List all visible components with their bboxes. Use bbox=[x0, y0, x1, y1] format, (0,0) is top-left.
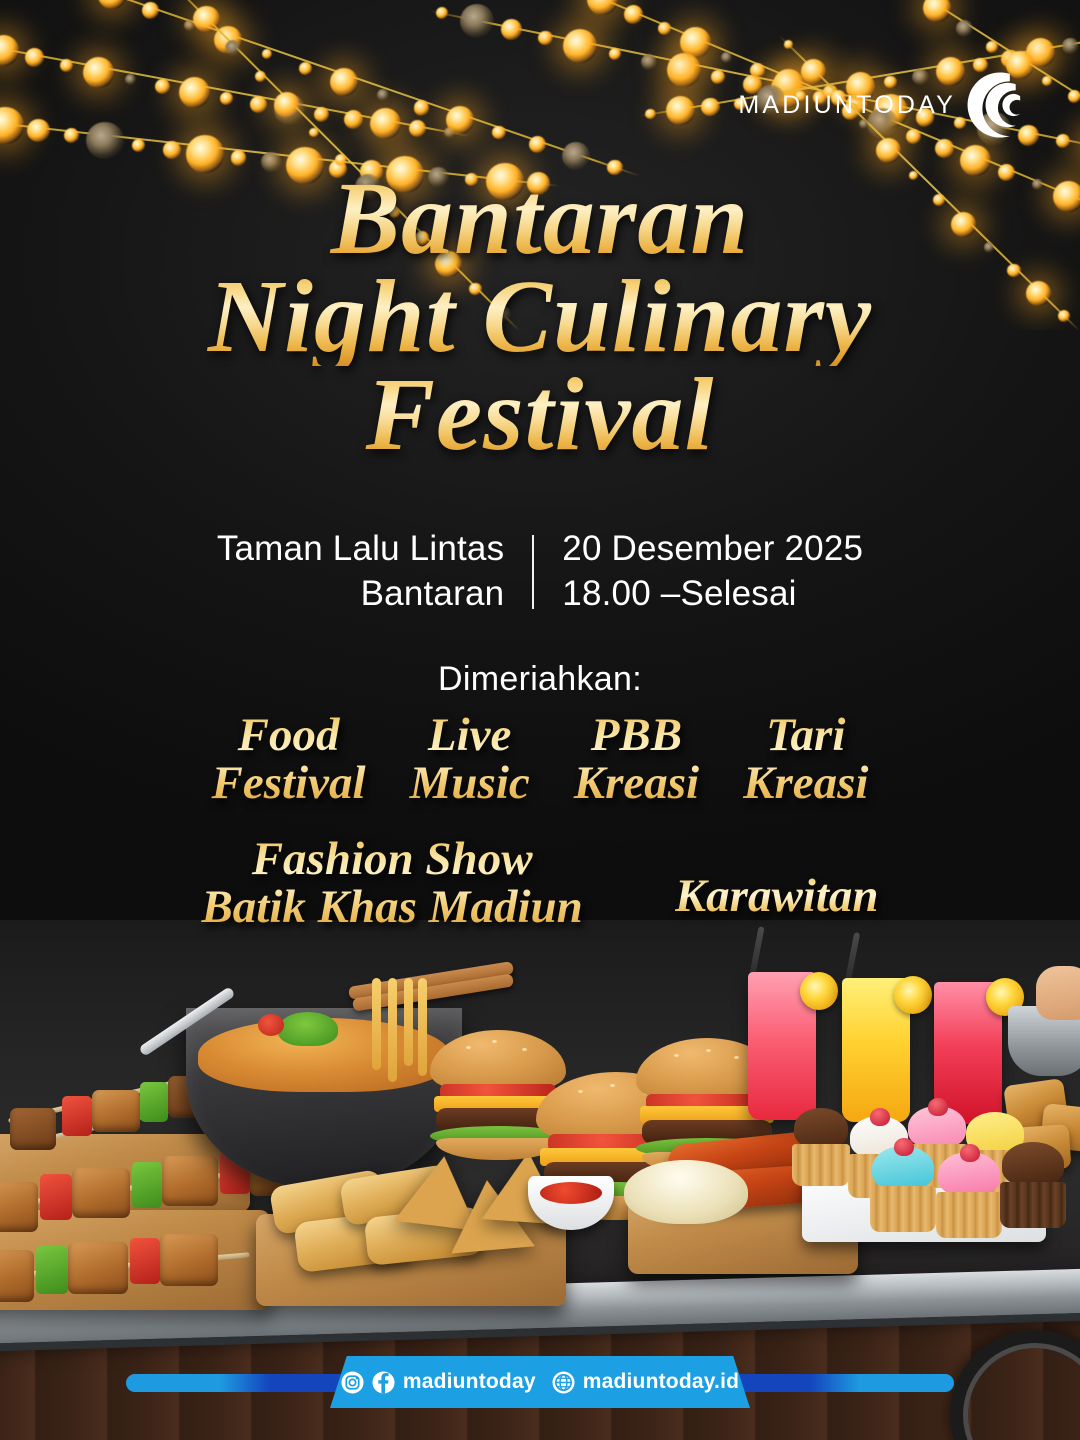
light-bulb bbox=[214, 26, 242, 54]
light-bulb bbox=[98, 0, 126, 9]
satay-meat bbox=[162, 1156, 218, 1206]
act-karawitan: Karawitan bbox=[675, 873, 879, 921]
cupcake-liner bbox=[870, 1186, 936, 1232]
tomato-garnish bbox=[258, 1014, 284, 1036]
light-bulb bbox=[64, 128, 80, 144]
light-bulb bbox=[587, 0, 618, 15]
light-bulb bbox=[1056, 134, 1070, 148]
light-bulb bbox=[60, 59, 73, 72]
light-bulb bbox=[255, 71, 266, 82]
social-handle-group[interactable]: madiuntoday bbox=[341, 1370, 536, 1394]
act-fashion-show: Fashion Show Batik Khas Madiun bbox=[201, 836, 582, 932]
act-live-music: Live Music bbox=[388, 712, 552, 808]
light-bulb bbox=[1062, 38, 1078, 54]
light-bulb bbox=[641, 54, 658, 71]
light-bulb bbox=[923, 0, 951, 22]
light-bulb bbox=[377, 89, 389, 101]
light-bulb bbox=[1068, 90, 1080, 104]
act-line-2: Kreasi bbox=[743, 760, 868, 808]
bun-seed bbox=[522, 1048, 527, 1051]
program-acts-row-2: Fashion Show Batik Khas Madiun Karawitan bbox=[0, 836, 1080, 932]
light-bulb bbox=[184, 20, 196, 32]
act-pbb-kreasi: PBB Kreasi bbox=[552, 712, 721, 808]
bun-seed bbox=[578, 1090, 583, 1093]
light-bulb bbox=[446, 106, 474, 134]
event-date: 20 Desember 2025 bbox=[562, 527, 863, 572]
light-bulb bbox=[609, 48, 621, 60]
instagram-icon[interactable] bbox=[341, 1371, 364, 1394]
website-group[interactable]: madiuntoday.id bbox=[552, 1370, 739, 1394]
satay-pepper-red bbox=[62, 1096, 92, 1136]
light-bulb bbox=[193, 6, 219, 32]
light-bulb bbox=[274, 92, 300, 118]
light-bulb bbox=[163, 141, 181, 159]
lifted-noodle-strand bbox=[418, 978, 427, 1076]
event-details: Taman Lalu Lintas Bantaran 20 Desember 2… bbox=[0, 527, 1080, 617]
light-bulb bbox=[142, 2, 159, 19]
light-bulb bbox=[1001, 50, 1019, 68]
act-line-1: Live bbox=[410, 712, 530, 760]
light-bulb bbox=[935, 139, 954, 158]
satay-meat bbox=[92, 1090, 140, 1132]
satay-meat bbox=[68, 1242, 128, 1294]
social-handle-text: madiuntoday bbox=[403, 1370, 536, 1394]
cupcake-berry bbox=[894, 1138, 914, 1156]
act-line-1: PBB bbox=[574, 712, 699, 760]
satay-pepper-green bbox=[36, 1246, 68, 1294]
brand-logo: MADIUNTODAY bbox=[738, 68, 1032, 142]
light-bulb bbox=[624, 5, 643, 24]
light-bulb bbox=[956, 20, 973, 37]
light-bulb bbox=[314, 107, 329, 122]
title-line-1: Bantaran bbox=[0, 170, 1080, 268]
venue-line-2: Bantaran bbox=[217, 572, 504, 617]
light-wire bbox=[59, 0, 640, 177]
satay-pepper-red bbox=[40, 1174, 72, 1220]
light-bulb bbox=[444, 127, 455, 138]
title-line-2: Night Culinary bbox=[0, 268, 1080, 366]
venue-block: Taman Lalu Lintas Bantaran bbox=[217, 527, 532, 617]
light-bulb bbox=[409, 120, 426, 137]
act-line-1: Food bbox=[212, 712, 366, 760]
act-line-1: Tari bbox=[743, 712, 868, 760]
brand-logo-text: MADIUNTODAY bbox=[738, 91, 956, 120]
light-bulb bbox=[501, 19, 522, 40]
light-bulb bbox=[179, 77, 210, 108]
light-bulb bbox=[492, 126, 506, 140]
light-bulb bbox=[309, 128, 318, 137]
cupcake-liner bbox=[936, 1192, 1002, 1238]
lifted-noodle-strand bbox=[372, 978, 381, 1070]
hand-reaching bbox=[1036, 966, 1080, 1020]
venue-line-1: Taman Lalu Lintas bbox=[217, 527, 504, 572]
bun-seed bbox=[492, 1040, 497, 1043]
light-bulb bbox=[250, 96, 267, 113]
light-bulb bbox=[784, 40, 793, 49]
light-bulb bbox=[667, 53, 701, 87]
light-bulb bbox=[83, 57, 114, 88]
cupcake-berry bbox=[960, 1144, 980, 1162]
light-bulb bbox=[658, 22, 671, 35]
light-bulb bbox=[186, 135, 223, 172]
bun-seed bbox=[734, 1056, 739, 1059]
light-bulb bbox=[0, 35, 19, 66]
satay-meat bbox=[160, 1234, 218, 1286]
cupcake-blue bbox=[866, 1146, 940, 1232]
cupcake-chocolate bbox=[996, 1142, 1070, 1228]
act-line-1: Fashion Show bbox=[201, 836, 582, 884]
light-bulb bbox=[538, 31, 552, 45]
bun-seed bbox=[610, 1084, 615, 1087]
satay-pepper-red bbox=[130, 1238, 160, 1284]
satay-meat bbox=[10, 1108, 56, 1150]
light-bulb bbox=[645, 109, 655, 119]
light-bulb bbox=[414, 100, 429, 115]
light-bulb bbox=[666, 96, 695, 125]
facebook-icon[interactable] bbox=[372, 1371, 395, 1394]
cupcake-berry bbox=[870, 1108, 890, 1126]
light-bulb bbox=[344, 110, 363, 129]
light-bulb bbox=[986, 41, 998, 53]
light-bulb bbox=[155, 79, 170, 94]
noodle-garnish bbox=[278, 1012, 338, 1046]
satay-pepper-green bbox=[132, 1162, 162, 1208]
lifted-noodle-strand bbox=[404, 978, 413, 1066]
light-bulb bbox=[1042, 76, 1052, 86]
footer-contact-panel: madiuntoday madiuntoday.id bbox=[330, 1356, 750, 1408]
act-line-2: Festival bbox=[212, 760, 366, 808]
light-bulb bbox=[563, 29, 597, 63]
light-bulb bbox=[701, 98, 719, 116]
light-bulb bbox=[436, 7, 448, 19]
light-bulb bbox=[721, 52, 732, 63]
act-line-2: Batik Khas Madiun bbox=[201, 884, 582, 932]
footer-ribbon: madiuntoday madiuntoday.id bbox=[0, 1370, 1080, 1396]
lifted-noodle-strand bbox=[388, 978, 397, 1082]
light-bulb bbox=[460, 4, 494, 38]
light-bulb bbox=[231, 150, 247, 166]
light-bulb bbox=[680, 27, 711, 58]
website-text: madiuntoday.id bbox=[583, 1370, 739, 1394]
bun-seed bbox=[466, 1046, 471, 1049]
act-food-festival: Food Festival bbox=[190, 712, 388, 808]
globe-icon[interactable] bbox=[552, 1371, 575, 1394]
lemon-slice bbox=[800, 972, 838, 1010]
light-bulb bbox=[0, 107, 24, 144]
event-time: 18.00 –Selesai bbox=[562, 572, 863, 617]
poster-root: MADIUNTODAY Bantaran Night Culinary Fest… bbox=[0, 0, 1080, 1440]
cupcake-strawberry bbox=[932, 1152, 1006, 1238]
cupcake-liner bbox=[1000, 1182, 1066, 1228]
light-bulb bbox=[225, 40, 241, 56]
cupcake-frosting bbox=[1002, 1142, 1064, 1186]
bun-seed bbox=[674, 1054, 679, 1057]
program-label: Dimeriahkan: bbox=[0, 660, 1080, 699]
poster-title: Bantaran Night Culinary Festival bbox=[0, 170, 1080, 463]
satay-meat bbox=[72, 1168, 130, 1218]
light-bulb bbox=[370, 108, 401, 139]
light-bulb bbox=[274, 94, 305, 125]
cupcake-frosting bbox=[794, 1108, 848, 1148]
lemon-slice bbox=[894, 976, 932, 1014]
light-bulb bbox=[86, 122, 123, 159]
act-line-2: Kreasi bbox=[574, 760, 699, 808]
light-bulb bbox=[1026, 38, 1055, 67]
datetime-block: 20 Desember 2025 18.00 –Selesai bbox=[534, 527, 863, 617]
light-bulb bbox=[220, 92, 233, 105]
cupcake-liner bbox=[792, 1144, 850, 1186]
act-tari-kreasi: Tari Kreasi bbox=[721, 712, 890, 808]
light-bulb bbox=[27, 119, 50, 142]
chili-sauce bbox=[540, 1182, 602, 1204]
light-bulb bbox=[262, 49, 272, 59]
light-wire bbox=[0, 40, 470, 137]
light-bulb bbox=[330, 68, 358, 96]
swirl-arc-icon bbox=[958, 68, 1032, 142]
coleslaw bbox=[624, 1160, 748, 1224]
satay-meat bbox=[0, 1250, 34, 1302]
title-line-3: Festival bbox=[0, 366, 1080, 464]
light-bulb bbox=[125, 74, 136, 85]
act-line-2: Music bbox=[410, 760, 530, 808]
program-acts-row-1: Food Festival Live Music PBB Kreasi Tari… bbox=[0, 712, 1080, 808]
light-bulb bbox=[299, 62, 313, 76]
light-bulb bbox=[529, 136, 546, 153]
light-bulb bbox=[261, 152, 281, 172]
satay-meat bbox=[0, 1182, 38, 1232]
satay-pepper-green bbox=[140, 1082, 168, 1122]
bun-seed bbox=[706, 1049, 711, 1052]
cupcake-berry bbox=[928, 1098, 948, 1116]
light-bulb bbox=[132, 139, 145, 152]
light-bulb bbox=[25, 48, 44, 67]
light-bulb bbox=[711, 70, 725, 84]
